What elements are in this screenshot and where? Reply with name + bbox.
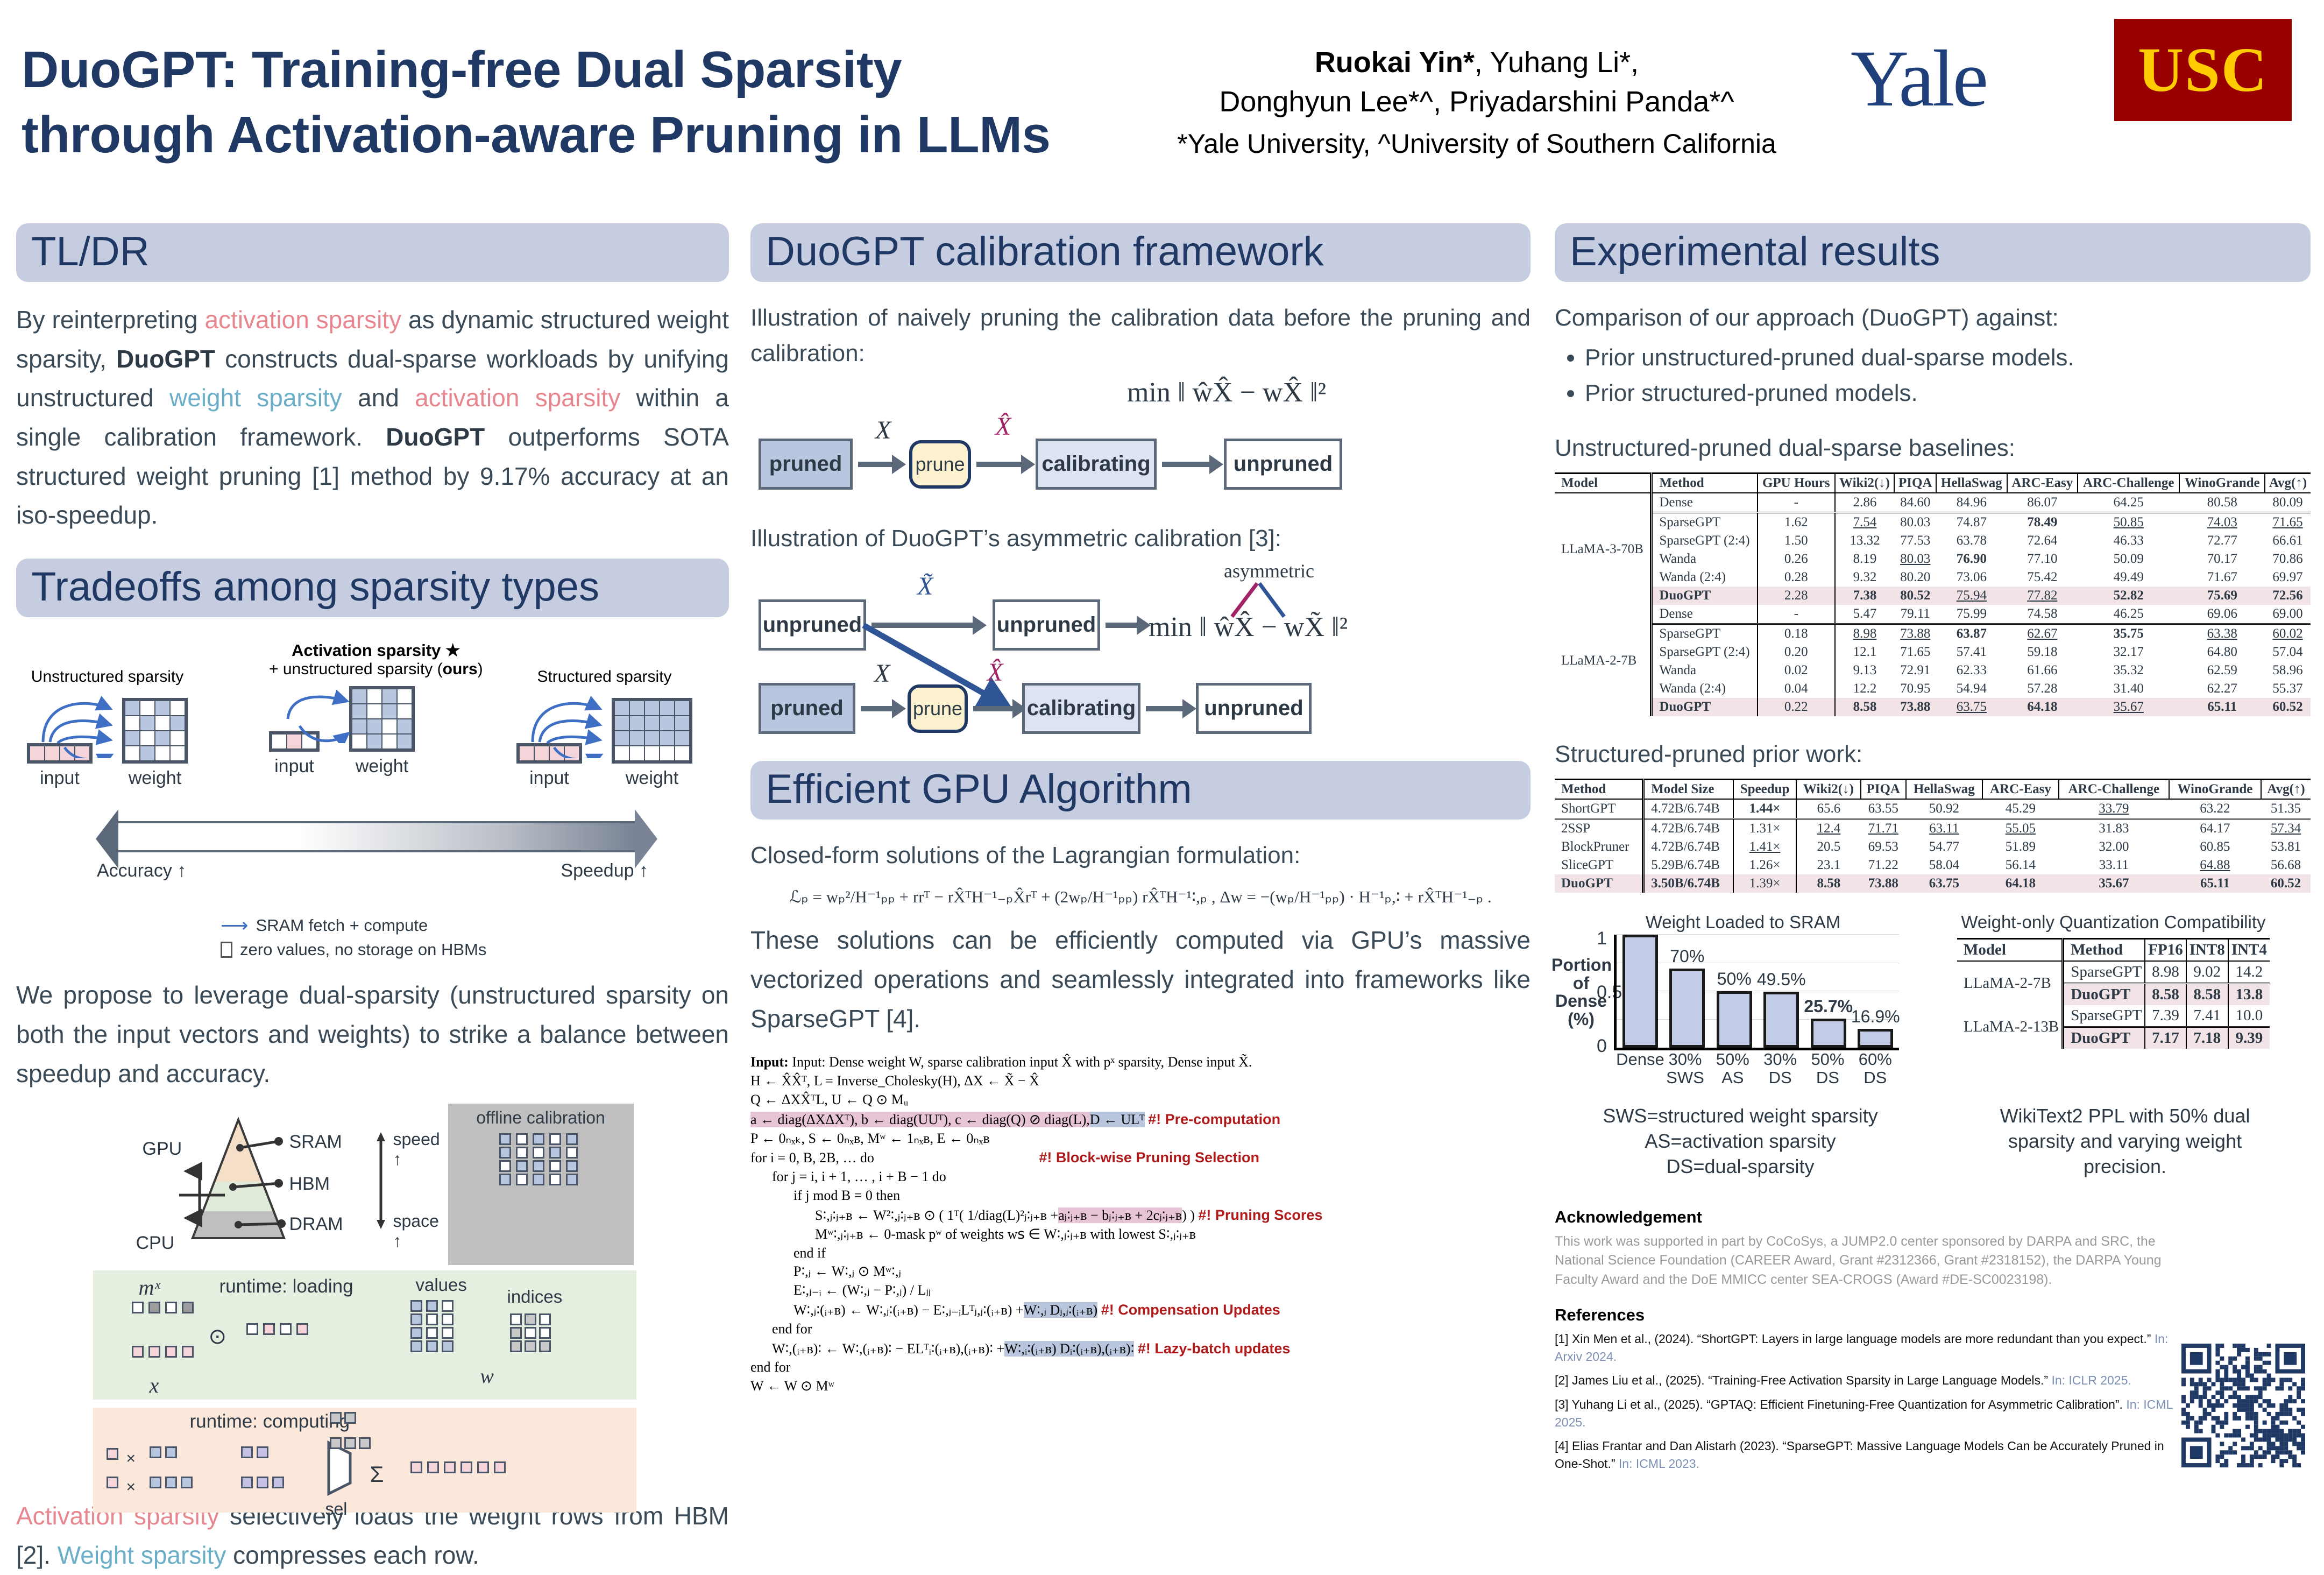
table1-value-cell: 49.49 <box>2078 568 2179 587</box>
table1-value-cell: 74.87 <box>1936 513 2007 532</box>
matrix-cell <box>171 716 185 730</box>
table1-value-cell: 8.19 <box>1835 550 1895 568</box>
chart-caption-l3: DS=dual-sparsity <box>1555 1154 1926 1180</box>
algo-line-6: for j = i, i + 1, … , i + B − 1 do <box>750 1168 1531 1186</box>
legend-label-zero: zero values, no storage on HBMs <box>240 940 486 959</box>
legend-row-sram: ⟶ SRAM fetch + compute <box>221 914 729 937</box>
table1-value-cell: 54.94 <box>1936 680 2007 698</box>
matrix-cell <box>630 701 644 715</box>
table2-col-header: ARC-Challenge <box>2059 780 2169 800</box>
algo-comment-precomputation: #! Pre-computation <box>1148 1111 1280 1127</box>
algo-line-input: Input: Input: Dense weight W, sparse cal… <box>750 1053 1531 1072</box>
table1-model-cell: LLaMA-2-7B <box>1555 605 1652 716</box>
table-row: Wanda (2:4)0.0412.270.9554.9457.2831.406… <box>1555 680 2311 698</box>
table2-cell: 1.44× <box>1733 799 1796 819</box>
table2-cell: 65.11 <box>2169 874 2261 893</box>
matrix-cell <box>241 1446 253 1458</box>
table1-value-cell: 55.37 <box>2265 680 2311 698</box>
table1-value-cell: 69.00 <box>2265 605 2311 624</box>
matrix-cell <box>75 746 89 760</box>
matrix-cell <box>150 1446 161 1458</box>
table1-value-cell: 74.58 <box>2007 605 2078 624</box>
table1-value-cell: 65.11 <box>2179 698 2265 716</box>
acknowledgement-body: This work was supported in part by CoCoS… <box>1555 1232 2163 1290</box>
matrix-cell <box>675 701 689 715</box>
quant-col-header: FP16 <box>2145 939 2186 962</box>
algo-precomp-pink: a ← diag(ΔXΔXᵀ), b ← diag(UUᵀ), c ← diag… <box>750 1112 1090 1127</box>
matrix-cell <box>645 746 659 760</box>
section-header-tradeoffs: Tradeoffs among sparsity types <box>16 559 729 617</box>
table2-cell: 63.75 <box>1906 874 1982 893</box>
table2-cell: 60.52 <box>2261 874 2311 893</box>
flow-box-pruned-1: pruned <box>759 439 853 490</box>
matrix-cell <box>165 1302 177 1313</box>
table-row: LLaMA-2-13BSparseGPT7.397.4110.0 <box>1957 1005 2270 1027</box>
table1-col-header: HellaSwag <box>1936 474 2007 493</box>
table2-cell: 71.71 <box>1861 819 1906 838</box>
flow-box-unpruned-1: unpruned <box>1224 439 1342 490</box>
flow-var-Xhat-2: X̂ <box>987 658 1003 687</box>
table1-value-cell: 0.02 <box>1758 661 1835 680</box>
label-dram: DRAM <box>289 1214 343 1235</box>
table1-value-cell: 0.28 <box>1758 568 1835 587</box>
table2-cell: 1.31× <box>1733 819 1796 838</box>
quant-caption: WikiText2 PPL with 50% dual sparsity and… <box>1947 1104 2302 1179</box>
matrix-cell <box>615 731 629 745</box>
matrix-cell <box>566 1174 578 1185</box>
table1-value-cell: 66.61 <box>2265 532 2311 550</box>
algo-comp-blue: W∶,ⱼ Dⱼ,ⱼ∶(ᵢ₊ʙ) <box>1024 1302 1098 1318</box>
table1-method-cell: Wanda <box>1652 550 1758 568</box>
table2-cell: 5.29B/6.74B <box>1643 856 1733 874</box>
table2-cell: 58.04 <box>1906 856 1982 874</box>
matrix-cell <box>181 1477 193 1488</box>
qr-code-icon[interactable] <box>2181 1344 2305 1467</box>
chart-plot-area: 70%50%49.5%25.7%16.9% <box>1614 935 1899 1050</box>
multiply-icon-2: × <box>126 1478 136 1496</box>
table1-value-cell: 57.28 <box>2007 680 2078 698</box>
algo-scores-pink: aⱼ∶ⱼ₊ʙ − bⱼ∶ⱼ₊ʙ + 2cⱼ∶ⱼ₊ʙ <box>1058 1207 1182 1223</box>
table2-col-header: Model Size <box>1643 780 1733 800</box>
table1-method-cell: SparseGPT <box>1652 624 1758 644</box>
tradeoff-label-ours-1: Activation sparsity ★ <box>269 641 483 660</box>
table2-cell: 20.5 <box>1796 838 1861 856</box>
matrix-cell <box>125 746 139 760</box>
table1-value-cell: 1.62 <box>1758 513 1835 532</box>
chart-bar: 16.9% <box>1858 1029 1893 1048</box>
poster-title-line-1: DuoGPT: Training-free Dual Sparsity <box>22 38 1130 103</box>
io-label-input-2: input <box>269 756 320 777</box>
results-bullet-2: Prior structured-pruned models. <box>1585 376 2311 411</box>
chart-bar: 25.7% <box>1811 1019 1846 1048</box>
table-row: DuoGPT3.50B/6.74B1.39×8.5873.8863.7564.1… <box>1555 874 2311 893</box>
matrix-cell <box>352 689 366 703</box>
references-list: [1] Xin Men et al., (2024). “ShortGPT: L… <box>1555 1330 2179 1473</box>
flow-box-pruned-2: pruned <box>759 683 855 734</box>
tradeoff-diagram: Unstructured sparsity input weight <box>16 635 729 905</box>
label-x: x <box>150 1373 159 1398</box>
table1-value-cell: 57.04 <box>2265 643 2311 661</box>
table1-value-cell: 78.49 <box>2007 513 2078 532</box>
matrix-cell <box>675 731 689 745</box>
table1-value-cell: 50.85 <box>2078 513 2179 532</box>
algo-line-5: for i = 0, B, 2B, … do #! Block-wise Pru… <box>750 1148 1531 1168</box>
table2-cell: 55.05 <box>1982 819 2059 838</box>
matrix-cell <box>442 1300 454 1312</box>
accuracy-speedup-arrow <box>118 821 635 852</box>
first-author: Ruokai Yin* <box>1315 46 1475 79</box>
quant-value-cell: 7.41 <box>2186 1005 2228 1027</box>
table2-cell: 4.72B/6.74B <box>1643 799 1733 819</box>
table2-cell: 64.18 <box>1982 874 2059 893</box>
matrix-cell <box>442 1313 454 1325</box>
table1-value-cell: 60.02 <box>2265 624 2311 644</box>
matrix-cell <box>280 1323 292 1335</box>
table-row: DuoGPT0.228.5873.8863.7564.1835.6765.116… <box>1555 698 2311 716</box>
table2-cell: 64.17 <box>2169 819 2261 838</box>
table1-value-cell: 62.67 <box>2007 624 2078 644</box>
matrix-cell <box>535 746 549 760</box>
table1-value-cell: 75.94 <box>1936 587 2007 605</box>
table-row: Wanda0.029.1372.9162.3361.6635.3262.5958… <box>1555 661 2311 680</box>
matrix-cell <box>125 716 139 730</box>
results-table-unstructured: ModelMethodGPU HoursWiki2(↓)PIQAHellaSwa… <box>1555 472 2311 716</box>
table2-cell: 71.22 <box>1861 856 1906 874</box>
table2-col-header: Speedup <box>1733 780 1796 800</box>
algo-line-8: S∶,ⱼ∶ⱼ₊ʙ ← W²∶,ⱼ∶ⱼ₊ʙ ⊙ ( 1ᵀ( 1/diag(L)²ⱼ… <box>750 1205 1531 1225</box>
matrix-cell <box>398 719 412 733</box>
matrix-cell <box>367 704 381 718</box>
matrix-cell <box>171 731 185 745</box>
table1-value-cell: 69.97 <box>2265 568 2311 587</box>
algo-line-16: end for <box>750 1358 1531 1377</box>
table1-value-cell: 63.38 <box>2179 624 2265 644</box>
chart-and-quant-row: Weight Loaded to SRAM Portion of Dense (… <box>1555 912 2311 1090</box>
arrow-right-icon: ⟶ <box>221 914 249 937</box>
acknowledgement-title: Acknowledgement <box>1555 1207 2311 1227</box>
section-header-calibration: DuoGPT calibration framework <box>750 223 1531 282</box>
quant-col-header: Method <box>2063 939 2145 962</box>
table2-col-header: WinoGrande <box>2169 780 2261 800</box>
matrix-cell <box>155 731 169 745</box>
matrix-cell <box>426 1300 438 1312</box>
matrix-cell <box>494 1461 506 1473</box>
label-mx: mˣ <box>139 1275 160 1300</box>
flow-arrow-5 <box>1106 623 1138 628</box>
runtime-loading-band: runtime: loading mˣ x ⊙ values indices w <box>93 1270 636 1400</box>
quant-method-cell: SparseGPT <box>2063 1005 2145 1027</box>
matrix-cell <box>510 1327 522 1339</box>
quant-method-cell: DuoGPT <box>2063 1027 2145 1049</box>
table1-method-cell: DuoGPT <box>1652 698 1758 716</box>
label-hbm: HBM <box>289 1174 330 1195</box>
author-line-1-rest: , Yuhang Li*, <box>1475 46 1639 79</box>
matrix-cell <box>533 1160 544 1172</box>
matrix-cell <box>382 734 396 748</box>
table2-cell: SliceGPT <box>1555 856 1643 874</box>
naive-calibration-flow: min ‖ ŵX̂ − wX̂ ‖² pruned X prune X̂ cal… <box>750 382 1531 506</box>
algo-lazy-blue: W∶,ᵢ∶(ᵢ₊ʙ) Dᵢ∶(ᵢ₊ʙ),(ᵢ₊ʙ)∶ <box>1004 1341 1134 1357</box>
matrix-cell <box>675 746 689 760</box>
flow-box-unpruned-bot: unpruned <box>1196 683 1312 734</box>
table-row: SparseGPT (2:4)0.2012.171.6557.4159.1832… <box>1555 643 2311 661</box>
io-label-weight-1: weight <box>122 768 188 789</box>
tldr-p1: By reinterpreting <box>16 306 204 334</box>
table1-method-cell: Dense <box>1652 605 1758 624</box>
table2-cell: 1.26× <box>1733 856 1796 874</box>
quant-value-cell: 8.98 <box>2145 961 2186 984</box>
quant-value-cell: 10.0 <box>2228 1005 2270 1027</box>
matrix-cell <box>410 1340 422 1352</box>
matrix-cell <box>150 1477 161 1488</box>
flow-box-prune-1: prune <box>909 440 971 489</box>
indices-label: indices <box>507 1287 563 1307</box>
flow-arrow-6 <box>861 706 893 711</box>
table1-col-header: ARC-Easy <box>2007 474 2078 493</box>
table1-value-cell: 12.2 <box>1835 680 1895 698</box>
matrix-cell <box>533 1174 544 1185</box>
table2-cell: 23.1 <box>1796 856 1861 874</box>
table1-value-cell: 86.07 <box>2007 493 2078 513</box>
quant-value-cell: 8.58 <box>2186 984 2228 1006</box>
quant-method-cell: DuoGPT <box>2063 984 2145 1006</box>
table1-value-cell: 70.86 <box>2265 550 2311 568</box>
empty-box-icon <box>221 942 232 958</box>
label-sram: SRAM <box>289 1132 342 1153</box>
matrix-cell <box>272 734 286 748</box>
table1-value-cell: 80.03 <box>1894 550 1936 568</box>
table1-value-cell: - <box>1758 605 1835 624</box>
table2-caption: Structured-pruned prior work: <box>1555 737 2311 772</box>
table2-col-header: PIQA <box>1861 780 1906 800</box>
quant-col-header: INT8 <box>2186 939 2228 962</box>
matrix-cell <box>615 716 629 730</box>
algo-line-1: H ← X̂X̂ᵀ, L = Inverse_Cholesky(H), ΔX ←… <box>750 1072 1531 1091</box>
offline-calibration-label: offline calibration <box>448 1104 634 1128</box>
table1-value-cell: 79.11 <box>1894 605 1936 624</box>
calibration-intro-2: Illustration of DuoGPT’s asymmetric cali… <box>750 521 1531 556</box>
table1-value-cell: 70.17 <box>2179 550 2265 568</box>
authors-block: Ruokai Yin*, Yuhang Li*, Donghyun Lee*^,… <box>1140 43 1813 163</box>
multiply-icon-1: × <box>126 1450 136 1468</box>
tldr-span-activation-2: activation sparsity <box>415 384 620 412</box>
matrix-cell <box>427 1461 439 1473</box>
chart-xtick: Dense <box>1616 1050 1659 1087</box>
quant-value-cell: 7.18 <box>2186 1027 2228 1049</box>
io-label-weight-2: weight <box>349 756 415 777</box>
tldr-span-activation-1: activation sparsity <box>204 306 401 334</box>
matrix-cell <box>516 1133 528 1145</box>
tradeoff-group-structured: Structured sparsity input weight <box>516 668 692 789</box>
gpu-algorithm-closing: These solutions can be efficiently compu… <box>750 921 1531 1038</box>
flow-box-calibrating-2: calibrating <box>1022 683 1140 734</box>
table2-cell: 51.35 <box>2261 799 2311 819</box>
table1-value-cell: 1.50 <box>1758 532 1835 550</box>
matrix-cell <box>171 746 185 760</box>
quant-table-title: Weight-only Quantization Compatibility <box>1957 912 2270 933</box>
tradeoff-paragraph: We propose to leverage dual-sparsity (un… <box>16 976 729 1093</box>
matrix-cell <box>615 746 629 760</box>
matrix-cell <box>410 1300 422 1312</box>
matrix-cell <box>140 701 154 715</box>
matrix-cell <box>140 746 154 760</box>
matrix-cell <box>182 1346 194 1358</box>
accuracy-axis-label: Accuracy ↑ <box>97 860 186 881</box>
results-heading: Experimental results <box>1570 229 2295 274</box>
section-header-results: Experimental results <box>1555 223 2311 282</box>
table1-value-cell: 71.67 <box>2179 568 2265 587</box>
algo-line-7: if j mod B = 0 then <box>750 1186 1531 1205</box>
table2-col-header: Wiki2(↓) <box>1796 780 1861 800</box>
matrix-cell <box>630 731 644 745</box>
unstructured-input-vector: input <box>27 743 93 789</box>
table2-cell: 1.41× <box>1733 838 1796 856</box>
io-label-input-3: input <box>516 768 582 789</box>
flow-arrow-1 <box>858 462 893 467</box>
author-line-2: Donghyun Lee*^, Priyadarshini Panda*^ <box>1140 82 1813 122</box>
table1-method-cell: Wanda (2:4) <box>1652 568 1758 587</box>
chart-ytick-1: 1 <box>1597 928 1607 949</box>
offline-calibration-box: offline calibration <box>448 1104 634 1265</box>
flow-var-X-2: X <box>874 659 890 688</box>
algo-line-14: end for <box>750 1320 1531 1339</box>
table-row: LLaMA-2-7BDense-5.4779.1175.9974.5846.25… <box>1555 605 2311 624</box>
quant-value-cell: 7.17 <box>2145 1027 2186 1049</box>
label-space: space ↑ <box>393 1211 443 1251</box>
matrix-cell <box>525 1327 536 1339</box>
algo-comment-lazy: #! Lazy-batch updates <box>1138 1340 1291 1357</box>
chart-bars: 70%50%49.5%25.7%16.9% <box>1617 935 1899 1048</box>
table1-value-cell: 8.58 <box>1835 698 1895 716</box>
quant-value-cell: 14.2 <box>2228 961 2270 984</box>
tldr-bold-duogpt-1: DuoGPT <box>116 345 215 373</box>
matrix-cell <box>675 716 689 730</box>
table1-method-cell: DuoGPT <box>1652 587 1758 605</box>
table2-cell: 54.77 <box>1906 838 1982 856</box>
matrix-cell <box>60 746 74 760</box>
runtime-computing-label: runtime: computing <box>190 1411 350 1432</box>
matrix-cell <box>410 1461 422 1473</box>
table2-cell: 45.29 <box>1982 799 2059 819</box>
chart-bar: 49.5% <box>1763 992 1799 1048</box>
table1-value-cell: 9.32 <box>1835 568 1895 587</box>
table2-cell: 33.79 <box>2059 799 2169 819</box>
quant-value-cell: 9.39 <box>2228 1027 2270 1049</box>
bl-span-weight: Weight sparsity <box>58 1541 226 1569</box>
matrix-cell <box>246 1323 258 1335</box>
chart-bar-value: 70% <box>1670 947 1704 966</box>
matrix-cell <box>296 1323 308 1335</box>
left-column: TL/DR By reinterpreting activation spars… <box>16 223 729 1575</box>
matrix-cell <box>398 704 412 718</box>
tradeoff-label-unstructured: Unstructured sparsity <box>27 668 188 686</box>
pyramid-icon <box>168 1114 394 1254</box>
matrix-cell <box>148 1302 160 1313</box>
tradeoff-group-ours: Activation sparsity ★ + unstructured spa… <box>269 641 483 777</box>
matrix-cell <box>367 719 381 733</box>
table-row: DuoGPT2.287.3880.5275.9477.8252.8275.697… <box>1555 587 2311 605</box>
table1-value-cell: 35.75 <box>2078 624 2179 644</box>
table1-value-cell: 46.25 <box>2078 605 2179 624</box>
matrix-cell <box>426 1327 438 1339</box>
table-row: SparseGPT (2:4)1.5013.3277.5363.7872.644… <box>1555 532 2311 550</box>
algo-comment-blockwise: #! Block-wise Pruning Selection <box>1039 1149 1259 1166</box>
table1-caption: Unstructured-pruned dual-sparse baseline… <box>1555 430 2311 466</box>
matrix-cell <box>516 1147 528 1159</box>
section-header-tldr: TL/DR <box>16 223 729 282</box>
matrix-cell <box>615 701 629 715</box>
matrix-cell <box>520 746 534 760</box>
table2-cell: 51.89 <box>1982 838 2059 856</box>
matrix-cell <box>645 701 659 715</box>
table1-value-cell: 61.66 <box>2007 661 2078 680</box>
matrix-cell <box>272 1477 284 1488</box>
algo-line-15: W∶,(ᵢ₊ʙ)∶ ← W∶,(ᵢ₊ʙ)∶ − ELᵀᵢ∶(ᵢ₊ʙ),(ᵢ₊ʙ)… <box>750 1339 1531 1359</box>
chart-xtick: 30%DS <box>1759 1050 1802 1087</box>
matrix-cell <box>257 1446 268 1458</box>
table2-col-header: Avg(↑) <box>2261 780 2311 800</box>
table1-value-cell: 71.65 <box>2265 513 2311 532</box>
table1-col-header: Model <box>1555 474 1652 493</box>
matrix-cell <box>442 1340 454 1352</box>
matrix-cell <box>165 1346 177 1358</box>
matrix-cell <box>132 1302 144 1313</box>
table2-cell: 12.4 <box>1796 819 1861 838</box>
matrix-cell <box>533 1133 544 1145</box>
matrix-cell <box>499 1174 511 1185</box>
chart-xtick: 50%DS <box>1806 1050 1849 1087</box>
label-gpu: GPU <box>143 1139 182 1160</box>
table1-value-cell: 80.09 <box>2265 493 2311 513</box>
results-bullet-1: Prior unstructured-pruned dual-sparse mo… <box>1585 340 2311 376</box>
table2-cell: 57.34 <box>2261 819 2311 838</box>
flow-arrow-7 <box>973 706 1014 711</box>
quant-model-cell: LLaMA-2-7B <box>1957 961 2063 1005</box>
table1-col-header: Method <box>1652 474 1758 493</box>
table1-col-header: Avg(↑) <box>2265 474 2311 493</box>
algo-scores-c: ) ) <box>1182 1207 1195 1223</box>
quant-value-cell: 13.8 <box>2228 984 2270 1006</box>
matrix-cell <box>516 1174 528 1185</box>
matrix-cell <box>645 716 659 730</box>
algo-line-3: a ← diag(ΔXΔXᵀ), b ← diag(UUᵀ), c ← diag… <box>750 1110 1531 1129</box>
results-intro: Comparison of our approach (DuoGPT) agai… <box>1555 300 2311 336</box>
table1-value-cell: 73.88 <box>1894 624 1936 644</box>
table1-value-cell: 77.82 <box>2007 587 2078 605</box>
table1-method-cell: SparseGPT (2:4) <box>1652 643 1758 661</box>
table1-value-cell: 63.75 <box>1936 698 2007 716</box>
flow-var-X-1: X <box>875 415 891 445</box>
table1-value-cell: 35.67 <box>2078 698 2179 716</box>
flow-arrow-3 <box>1162 462 1210 467</box>
hadamard-icon: ⊙ <box>209 1324 227 1349</box>
chart-bar <box>1622 935 1658 1048</box>
matrix-cell <box>660 716 674 730</box>
algo-line-2: Q ← ΔXX̂ᵀL, U ← Q ⊙ Mᵤ <box>750 1091 1531 1110</box>
table1-value-cell: 35.32 <box>2078 661 2179 680</box>
matrix-cell <box>499 1133 511 1145</box>
table1-value-cell: 0.26 <box>1758 550 1835 568</box>
table1-value-cell: 7.38 <box>1835 587 1895 605</box>
matrix-cell <box>287 734 301 748</box>
matrix-cell <box>460 1461 472 1473</box>
quant-method-cell: SparseGPT <box>2063 961 2145 984</box>
table1-col-header: PIQA <box>1894 474 1936 493</box>
matrix-cell <box>499 1147 511 1159</box>
gpu-memory-diagram: offline calibration <box>50 1104 696 1480</box>
ours-weight-matrix: weight <box>349 686 415 777</box>
matrix-cell <box>477 1461 489 1473</box>
